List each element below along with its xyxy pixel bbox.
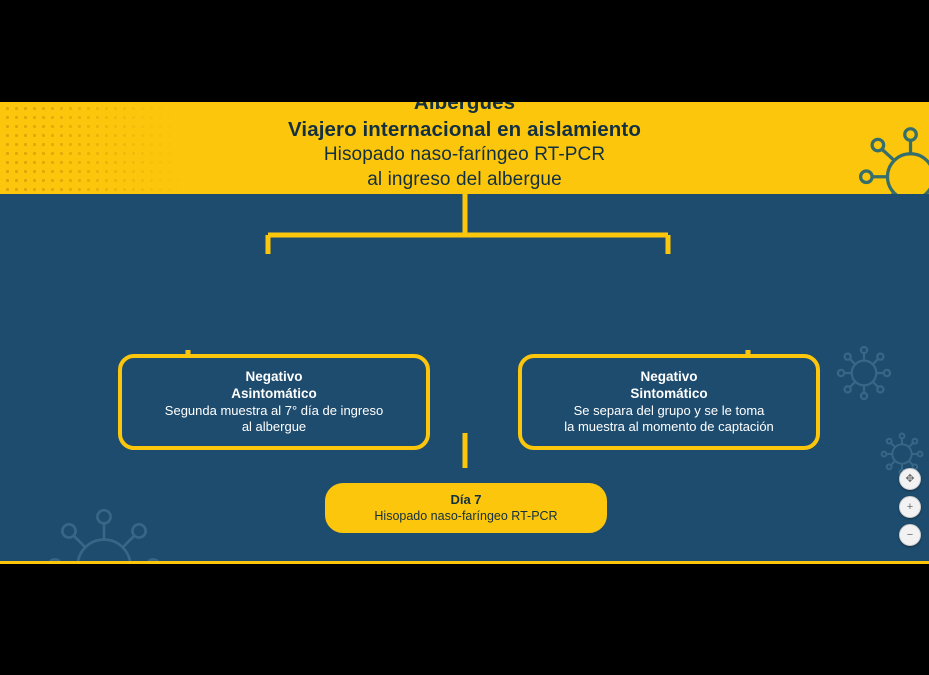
node-body-line1: Se separa del grupo y se le toma	[574, 403, 765, 420]
header-line-4: al ingreso del albergue	[0, 168, 929, 193]
minus-icon[interactable]: −	[899, 524, 921, 546]
header-line-2: Viajero internacional en aislamiento	[0, 117, 929, 144]
node-body: Hisopado naso-faríngeo RT-PCR	[374, 508, 557, 524]
node-title-line2: Asintomático	[231, 385, 317, 402]
node-negativo-asintomatico[interactable]: Negativo Asintomático Segunda muestra al…	[118, 354, 430, 450]
viewer-controls[interactable]: ✥ + −	[899, 468, 921, 546]
node-title-line1: Negativo	[640, 368, 697, 385]
node-title-line2: Sintomático	[630, 385, 707, 402]
node-body-line1: Segunda muestra al 7° día de ingreso	[165, 403, 383, 420]
node-body-line2: al albergue	[242, 419, 306, 436]
node-dia-7[interactable]: Día 7 Hisopado naso-faríngeo RT-PCR	[325, 483, 607, 533]
header-title-block: Albergues Viajero internacional en aisla…	[0, 102, 929, 193]
node-title-line1: Negativo	[245, 368, 302, 385]
node-title: Día 7	[450, 492, 481, 509]
bottom-accent-rule	[0, 561, 929, 564]
header-line-3: Hisopado naso-faríngeo RT-PCR	[0, 143, 929, 168]
diagram-canvas[interactable]: Negativo Asintomático Segunda muestra al…	[0, 102, 929, 564]
header-banner: Albergues Viajero internacional en aisla…	[0, 102, 929, 194]
pan-icon[interactable]: ✥	[899, 468, 921, 490]
plus-icon[interactable]: +	[899, 496, 921, 518]
node-negativo-sintomatico[interactable]: Negativo Sintomático Se separa del grupo…	[518, 354, 820, 450]
header-line-1: Albergues	[0, 102, 929, 117]
node-body-line2: la muestra al momento de captación	[564, 419, 774, 436]
